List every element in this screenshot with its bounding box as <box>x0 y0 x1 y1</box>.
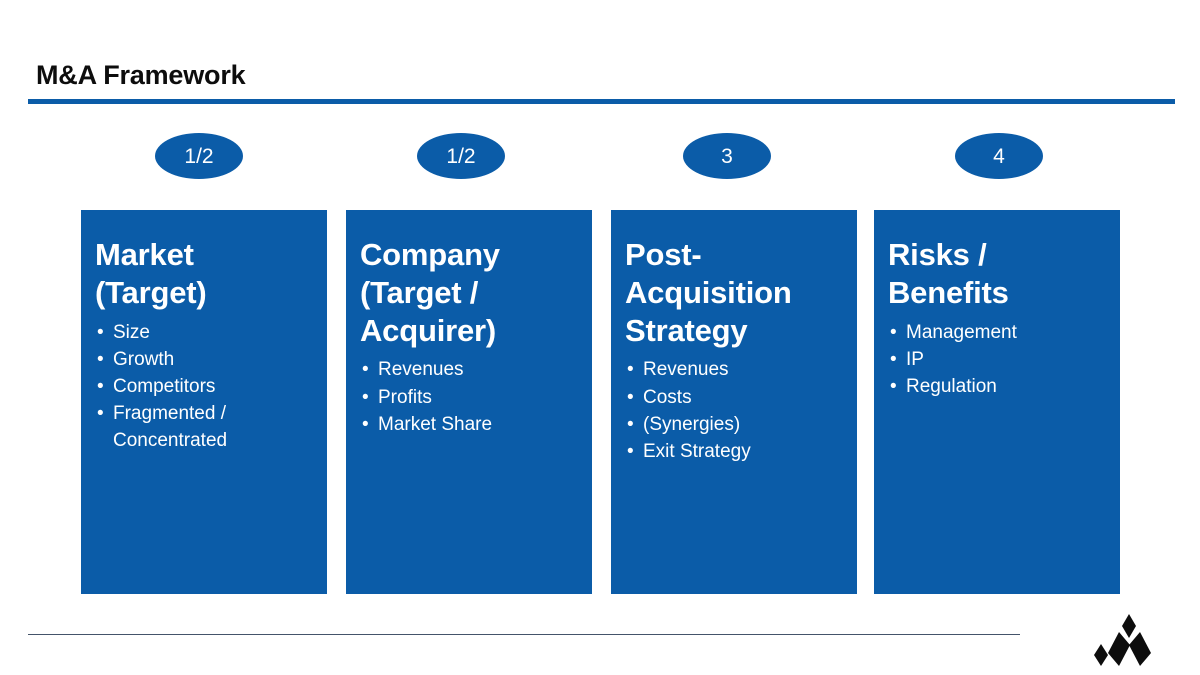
brand-mark-logo <box>1093 612 1167 668</box>
step-badge-1: 1/2 <box>155 133 243 179</box>
slide-canvas: M&A Framework 1/2 1/2 3 4 Market (Target… <box>0 0 1200 675</box>
step-badge-label: 1/2 <box>184 146 213 167</box>
card-title-line: Post- <box>625 236 843 274</box>
step-badge-label: 3 <box>721 146 733 167</box>
framework-card-risks-benefits: Risks / Benefits Management IP Regulatio… <box>874 210 1120 594</box>
page-title: M&A Framework <box>36 60 245 91</box>
card-bullet-list: Revenues Profits Market Share <box>360 357 578 438</box>
list-item: Regulation <box>888 374 1106 400</box>
card-title-line: Risks / <box>888 236 1106 274</box>
card-title-line: Company <box>360 236 578 274</box>
list-item: Exit Strategy <box>625 439 843 465</box>
card-bullet-list: Size Growth Competitors Fragmented / Con… <box>95 320 313 454</box>
step-badge-label: 4 <box>993 146 1005 167</box>
list-item: (Synergies) <box>625 412 843 438</box>
framework-card-post-acquisition: Post- Acquisition Strategy Revenues Cost… <box>611 210 857 594</box>
card-title: Market (Target) <box>95 236 313 312</box>
list-item: Competitors <box>95 374 313 400</box>
card-title-line: (Target) <box>95 274 313 312</box>
card-title-line: (Target / <box>360 274 578 312</box>
framework-card-company: Company (Target / Acquirer) Revenues Pro… <box>346 210 592 594</box>
step-badge-label: 1/2 <box>446 146 475 167</box>
card-title-line: Market <box>95 236 313 274</box>
header-divider <box>28 99 1175 104</box>
list-item: Revenues <box>625 357 843 383</box>
list-item: Revenues <box>360 357 578 383</box>
card-title-line: Acquirer) <box>360 312 578 350</box>
card-bullet-list: Management IP Regulation <box>888 320 1106 401</box>
list-item: Fragmented / Concentrated <box>95 401 313 453</box>
step-badge-4: 4 <box>955 133 1043 179</box>
list-item: Market Share <box>360 412 578 438</box>
card-title-line: Strategy <box>625 312 843 350</box>
card-title: Risks / Benefits <box>888 236 1106 312</box>
list-item: Growth <box>95 347 313 373</box>
list-item: Size <box>95 320 313 346</box>
list-item: IP <box>888 347 1106 373</box>
step-badge-3: 3 <box>683 133 771 179</box>
card-title-line: Acquisition <box>625 274 843 312</box>
framework-card-market: Market (Target) Size Growth Competitors … <box>81 210 327 594</box>
step-badge-2: 1/2 <box>417 133 505 179</box>
card-title: Company (Target / Acquirer) <box>360 236 578 349</box>
footer-divider <box>28 634 1020 635</box>
list-item: Costs <box>625 385 843 411</box>
card-title: Post- Acquisition Strategy <box>625 236 843 349</box>
list-item: Profits <box>360 385 578 411</box>
card-bullet-list: Revenues Costs (Synergies) Exit Strategy <box>625 357 843 465</box>
card-title-line: Benefits <box>888 274 1106 312</box>
list-item: Management <box>888 320 1106 346</box>
